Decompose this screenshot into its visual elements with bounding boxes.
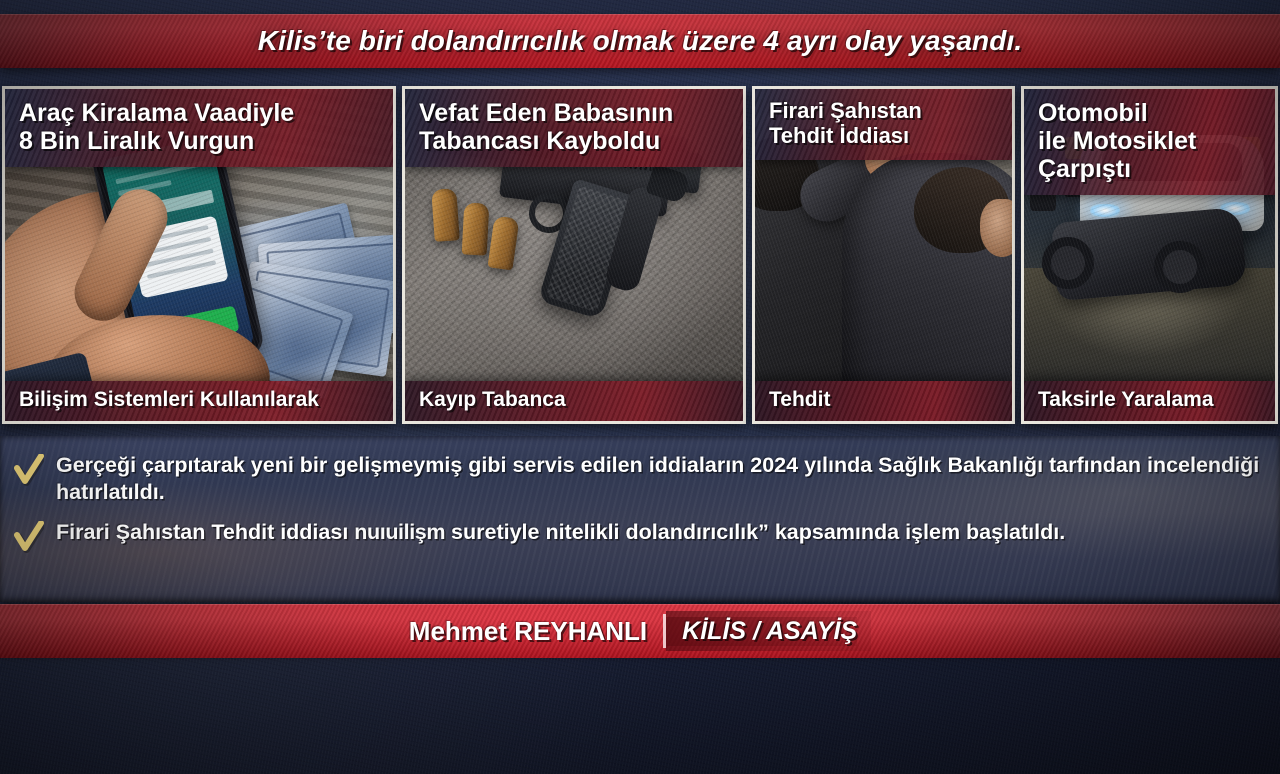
- card-caption: Taksirle Yaralama: [1038, 388, 1214, 411]
- list-item: Firari Şahıstan Tehdit iddiası nuıuilişm…: [14, 519, 1262, 555]
- card-title-bar: Araç Kiralama Vaadiyle 8 Bin Liralık Vur…: [5, 89, 393, 167]
- check-icon: [14, 454, 44, 488]
- news-card[interactable]: Otomobil ile Motosiklet Çarpıştı Taksirl…: [1021, 86, 1278, 424]
- page-title: Kilis’te biri dolandırıcılık olmak üzere…: [258, 25, 1022, 57]
- card-title-line2: 8 Bin Liralık Vurgun: [19, 127, 381, 155]
- summary-panel: Gerçeği çarpıtarak yeni bir gelişmeymiş …: [0, 436, 1280, 602]
- card-caption: Kayıp Tabanca: [419, 388, 566, 411]
- bullet-text-part2: suretiyle nitelikli dolandırıcılık” kaps…: [445, 520, 1065, 544]
- card-title-bar: Otomobil ile Motosiklet Çarpıştı: [1024, 89, 1275, 195]
- news-card[interactable]: Vefat Eden Babasının Tabancası Kayboldu …: [402, 86, 746, 424]
- card-title-line2: ile Motosiklet: [1038, 127, 1263, 155]
- bullet-text-part1: Firari Şahıstan Tehdit iddiası: [56, 520, 354, 544]
- card-caption-bar: Tehdit: [755, 381, 1012, 421]
- check-icon: [14, 521, 44, 555]
- bullet-text: Gerçeği çarpıtarak yeni bir gelişmeymiş …: [56, 452, 1262, 505]
- card-caption-bar: Taksirle Yaralama: [1024, 381, 1275, 421]
- card-caption-bar: Kayıp Tabanca: [405, 381, 743, 421]
- motorcycle-wheel: [1042, 237, 1094, 289]
- cartridge: [431, 188, 460, 242]
- bullet-text-glitch: nuıuilişm: [354, 520, 445, 544]
- bullet-text-composite: Firari Şahıstan Tehdit iddiası nuıuilişm…: [56, 519, 1065, 546]
- poster-stage: Kilis’te biri dolandırıcılık olmak üzere…: [0, 0, 1280, 774]
- card-title-line1: Firari Şahıstan: [769, 99, 1000, 124]
- headline-banner: Kilis’te biri dolandırıcılık olmak üzere…: [0, 14, 1280, 68]
- headlight: [1090, 204, 1120, 217]
- card-title-bar: Vefat Eden Babasının Tabancası Kayboldu: [405, 89, 743, 167]
- card-title-line1: Vefat Eden Babasının: [419, 99, 731, 127]
- author-name: Mehmet REYHANLI: [409, 616, 663, 647]
- list-item: Gerçeği çarpıtarak yeni bir gelişmeymiş …: [14, 452, 1262, 505]
- card-title-line2: Tehdit İddiası: [769, 124, 1000, 149]
- card-title-line3: Çarpıştı: [1038, 155, 1263, 183]
- card-caption: Tehdit: [769, 388, 830, 411]
- section-label: KİLİS / ASAYİŞ: [666, 617, 857, 646]
- card-title-line1: Otomobil: [1038, 99, 1263, 127]
- news-card-row: Araç Kiralama Vaadiyle 8 Bin Liralık Vur…: [2, 86, 1278, 424]
- byline-banner: Mehmet REYHANLI KİLİS / ASAYİŞ: [0, 604, 1280, 658]
- card-title-line1: Araç Kiralama Vaadiyle: [19, 99, 381, 127]
- card-title-line2: Tabancası Kayboldu: [419, 127, 731, 155]
- section-wrap: KİLİS / ASAYİŞ: [666, 611, 871, 651]
- card-caption-bar: Bilişim Sistemleri Kullanılarak: [5, 381, 393, 421]
- motorcycle-wheel: [1154, 241, 1206, 293]
- card-caption: Bilişim Sistemleri Kullanılarak: [19, 388, 319, 411]
- card-title-bar: Firari Şahıstan Tehdit İddiası: [755, 89, 1012, 160]
- cartridge: [462, 202, 490, 255]
- news-card[interactable]: Araç Kiralama Vaadiyle 8 Bin Liralık Vur…: [2, 86, 396, 424]
- news-card[interactable]: Firari Şahıstan Tehdit İddiası Tehdit: [752, 86, 1015, 424]
